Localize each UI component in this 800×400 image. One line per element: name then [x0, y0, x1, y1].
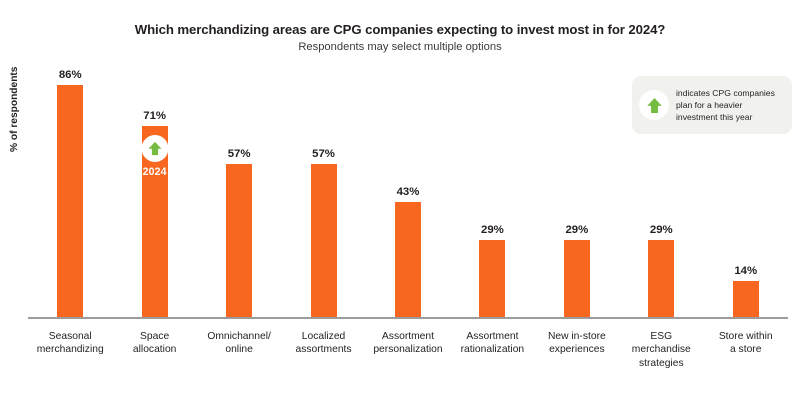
bar-value-label: 57%: [312, 148, 335, 160]
bar[interactable]: 29%: [564, 240, 590, 319]
bar[interactable]: 86%: [57, 85, 83, 319]
bar-series: 86%71%202457%57%43%29%29%29%14%: [28, 56, 788, 319]
up-arrow-icon: [141, 135, 168, 162]
x-axis-category-label: Omnichannel/ online: [197, 330, 281, 370]
chart-container: Which merchandizing areas are CPG compan…: [0, 0, 800, 400]
bar-slot: 29%: [619, 56, 703, 319]
bar[interactable]: 43%: [395, 202, 421, 319]
bar[interactable]: 71%2024: [142, 126, 168, 320]
x-axis-category-label: Localized assortments: [281, 330, 365, 370]
chart-title: Which merchandizing areas are CPG compan…: [0, 22, 800, 38]
bar-value-label: 14%: [734, 265, 757, 277]
bar-value-label: 86%: [59, 69, 82, 81]
bar-value-label: 57%: [228, 148, 251, 160]
bar-highlight-marker: 2024: [141, 135, 168, 178]
bar-value-label: 43%: [397, 186, 420, 198]
bar-slot: 57%: [197, 56, 281, 319]
x-axis-category-label: New in-store experiences: [535, 330, 619, 370]
plot-area: 86%71%202457%57%43%29%29%29%14%: [28, 56, 788, 319]
bar-slot: 71%2024: [112, 56, 196, 319]
x-axis-category-labels: Seasonal merchandizingSpace allocationOm…: [28, 330, 788, 370]
x-axis-category-label: ESG merchandise strategies: [619, 330, 703, 370]
bar-slot: 57%: [281, 56, 365, 319]
x-axis-category-label: Space allocation: [112, 330, 196, 370]
bar-value-label: 29%: [481, 224, 504, 236]
bar-slot: 86%: [28, 56, 112, 319]
title-block: Which merchandizing areas are CPG compan…: [0, 22, 800, 54]
bar-slot: 29%: [535, 56, 619, 319]
bar[interactable]: 14%: [733, 281, 759, 319]
bar-slot: 14%: [704, 56, 788, 319]
x-axis-category-label: Assortment personalization: [366, 330, 450, 370]
x-axis-baseline: [28, 317, 788, 319]
bar-slot: 29%: [450, 56, 534, 319]
bar-value-label: 71%: [143, 110, 166, 122]
bar[interactable]: 29%: [648, 240, 674, 319]
chart-subtitle: Respondents may select multiple options: [0, 41, 800, 54]
bar-value-label: 29%: [650, 224, 673, 236]
x-axis-category-label: Store within a store: [704, 330, 788, 370]
bar-marker-year-label: 2024: [143, 166, 167, 178]
bar[interactable]: 29%: [479, 240, 505, 319]
bar[interactable]: 57%: [311, 164, 337, 319]
y-axis-label: % of respondents: [9, 67, 20, 152]
x-axis-category-label: Seasonal merchandizing: [28, 330, 112, 370]
bar[interactable]: 57%: [226, 164, 252, 319]
x-axis-category-label: Assortment rationalization: [450, 330, 534, 370]
bar-slot: 43%: [366, 56, 450, 319]
bar-value-label: 29%: [565, 224, 588, 236]
